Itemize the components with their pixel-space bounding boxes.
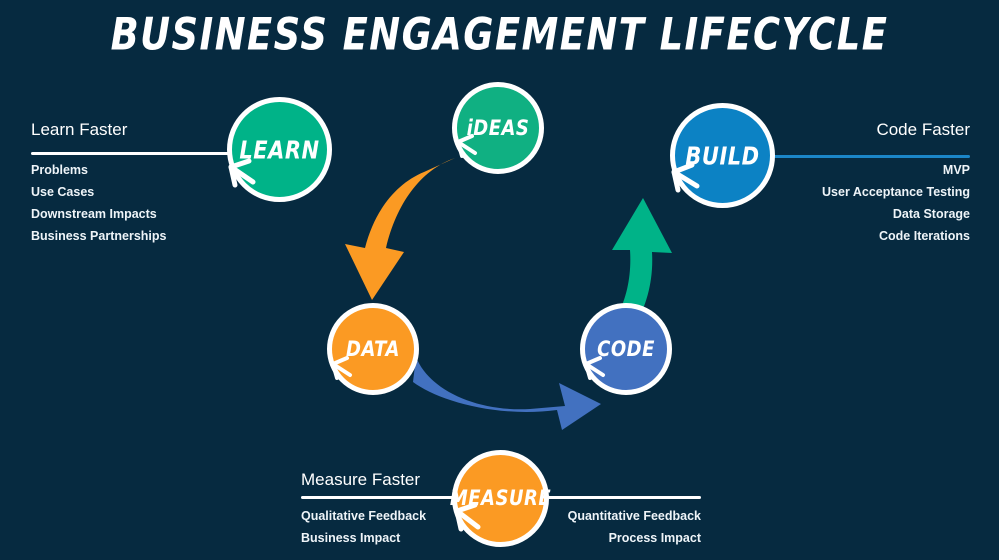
panel-build-item-2: Data Storage bbox=[770, 203, 970, 225]
node-build-label: BUILD bbox=[685, 141, 759, 170]
panel-measure-right-column: Quantitative Feedback Process Impact bbox=[568, 505, 701, 549]
panel-measure-right-item-0: Quantitative Feedback bbox=[568, 505, 701, 527]
panel-code-faster: Code Faster MVP User Acceptance Testing … bbox=[770, 120, 970, 247]
panel-learn-item-1: Use Cases bbox=[31, 181, 231, 203]
arrow-data-to-code bbox=[413, 357, 601, 430]
node-measure[interactable]: MEASURE bbox=[452, 450, 549, 547]
panel-build-item-1: User Acceptance Testing bbox=[770, 181, 970, 203]
panel-measure-right-item-1: Process Impact bbox=[568, 527, 701, 549]
arrow-ideas-to-data bbox=[345, 158, 455, 300]
diagram-canvas: BUSINESS ENGAGEMENT LIFECYCLE Learn Fast… bbox=[0, 0, 999, 560]
panel-build-item-3: Code Iterations bbox=[770, 225, 970, 247]
panel-learn-item-3: Business Partnerships bbox=[31, 225, 231, 247]
node-ideas[interactable]: iDEAS bbox=[452, 82, 544, 174]
panel-learn-item-2: Downstream Impacts bbox=[31, 203, 231, 225]
node-learn-label: LEARN bbox=[239, 135, 319, 164]
page-title: BUSINESS ENGAGEMENT LIFECYCLE bbox=[15, 8, 984, 60]
node-measure-label: MEASURE bbox=[450, 486, 551, 511]
panel-measure-left-item-1: Business Impact bbox=[301, 527, 426, 549]
node-code[interactable]: CODE bbox=[580, 303, 672, 395]
node-data[interactable]: DATA bbox=[327, 303, 419, 395]
node-data-label: DATA bbox=[346, 336, 400, 361]
panel-learn-faster: Learn Faster Problems Use Cases Downstre… bbox=[31, 120, 231, 247]
panel-measure-left-column: Qualitative Feedback Business Impact bbox=[301, 505, 426, 549]
node-ideas-label: iDEAS bbox=[467, 115, 530, 140]
panel-learn-item-0: Problems bbox=[31, 159, 231, 181]
panel-build-item-0: MVP bbox=[770, 159, 970, 181]
node-code-label: CODE bbox=[597, 336, 655, 361]
panel-learn-heading: Learn Faster bbox=[31, 120, 231, 140]
panel-measure-left-item-0: Qualitative Feedback bbox=[301, 505, 426, 527]
node-learn[interactable]: LEARN bbox=[227, 97, 332, 202]
node-build[interactable]: BUILD bbox=[670, 103, 775, 208]
panel-build-heading: Code Faster bbox=[770, 120, 970, 140]
